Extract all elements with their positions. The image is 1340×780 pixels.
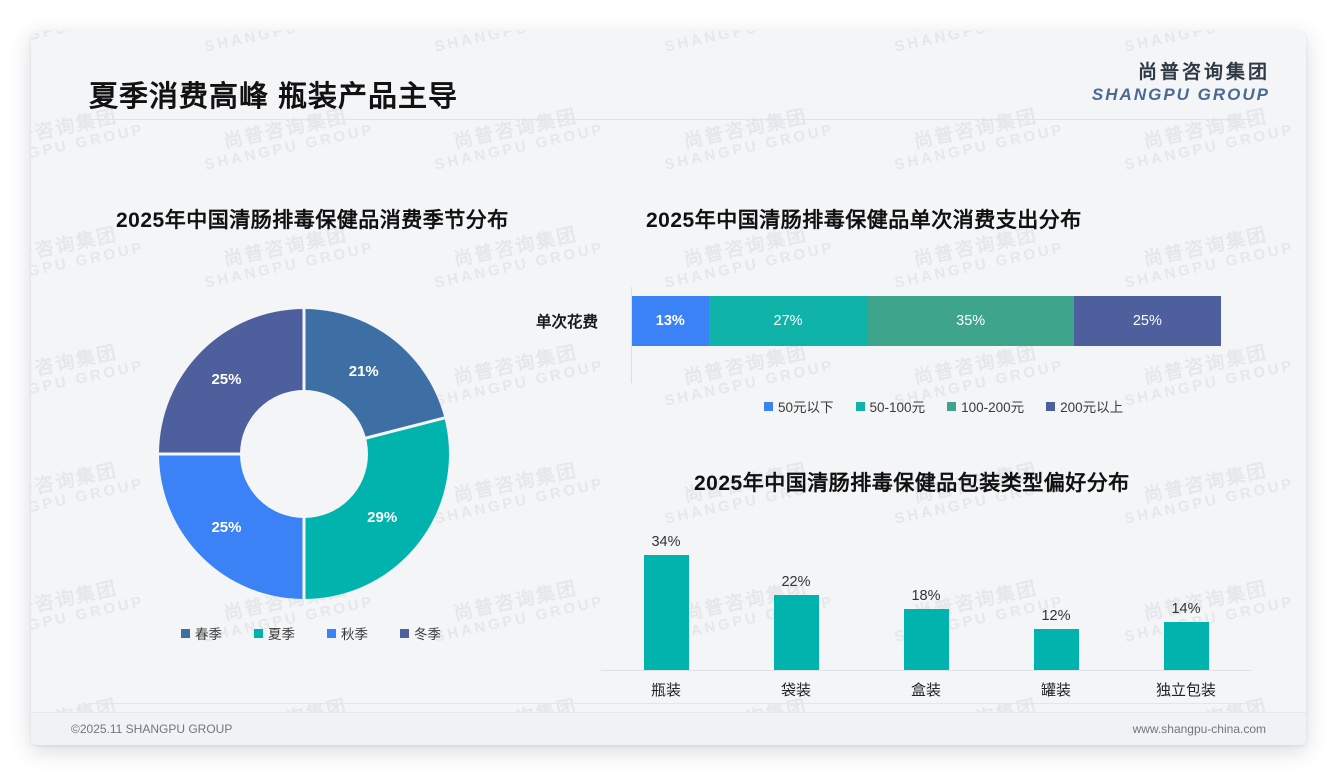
bar-value-label: 14% (1171, 601, 1200, 617)
donut-slice-label: 21% (349, 363, 379, 380)
bar-column-瓶装[interactable]: 34% (601, 515, 731, 670)
legend-label: 50-100元 (870, 396, 926, 416)
slide-header: 夏季消费高峰 瓶装产品主导 尚普咨询集团 SHANGPU GROUP (31, 31, 1306, 123)
legend-item-春季[interactable]: 春季 (181, 623, 222, 643)
footnote-divider (89, 703, 1254, 704)
stacked-bar-track: 13%27%35%25% (632, 296, 1221, 346)
legend-swatch-icon (254, 629, 263, 638)
bar-column-罐装[interactable]: 12% (991, 515, 1121, 670)
bar-value-label: 18% (911, 588, 940, 604)
stacked-bar-row-label: 单次花费 (536, 310, 598, 332)
legend-swatch-icon (947, 402, 956, 411)
legend-swatch-icon (764, 402, 773, 411)
legend-item-100-200元[interactable]: 100-200元 (947, 396, 1024, 416)
stacked-bar-legend: 50元以下50-100元100-200元200元以上 (764, 396, 1123, 416)
stacked-bar-segment-200元以上[interactable]: 25% (1074, 296, 1221, 346)
stacked-bar-segment-50元以下[interactable]: 13% (632, 296, 709, 346)
logo-text-cn: 尚普咨询集团 (1092, 57, 1270, 84)
header-divider (89, 119, 1254, 120)
legend-item-50元以下[interactable]: 50元以下 (764, 396, 834, 416)
footer-copyright: ©2025.11 SHANGPU GROUP (71, 722, 232, 736)
bar-column-袋装[interactable]: 22% (731, 515, 861, 670)
stacked-bar-chart-title: 2025年中国清肠排毒保健品单次消费支出分布 (646, 204, 1082, 234)
legend-item-秋季[interactable]: 秋季 (327, 623, 368, 643)
donut-chart-legend: 春季夏季秋季冬季 (181, 623, 441, 643)
legend-item-50-100元[interactable]: 50-100元 (856, 396, 926, 416)
legend-label: 秋季 (341, 623, 368, 643)
watermark-tile: 尚普咨询集团SHANGPU GROUP (429, 455, 606, 528)
legend-item-夏季[interactable]: 夏季 (254, 623, 295, 643)
watermark-tile: 尚普咨询集团SHANGPU GROUP (1119, 337, 1296, 410)
legend-label: 100-200元 (961, 396, 1024, 416)
bar-category-label-瓶装: 瓶装 (601, 679, 731, 700)
watermark-tile: 尚普咨询集团SHANGPU GROUP (31, 573, 146, 646)
stacked-bar-segment-50-100元[interactable]: 27% (709, 296, 868, 346)
stacked-bar-segment-100-200元[interactable]: 35% (868, 296, 1074, 346)
bar-rect[interactable] (774, 595, 819, 670)
page-title: 夏季消费高峰 瓶装产品主导 (89, 73, 458, 115)
donut-slice-label: 25% (211, 371, 241, 388)
legend-label: 春季 (195, 623, 222, 643)
logo-text-en: SHANGPU GROUP (1092, 85, 1270, 105)
legend-swatch-icon (400, 629, 409, 638)
bar-category-label-袋装: 袋装 (731, 679, 861, 700)
bar-category-label-盒装: 盒装 (861, 679, 991, 700)
legend-item-200元以上[interactable]: 200元以上 (1046, 396, 1123, 416)
footer-website[interactable]: www.shangpu-china.com (1133, 722, 1266, 736)
bar-column-盒装[interactable]: 18% (861, 515, 991, 670)
bar-value-label: 34% (651, 534, 680, 550)
legend-label: 200元以上 (1060, 396, 1123, 416)
legend-swatch-icon (327, 629, 336, 638)
watermark-tile: 尚普咨询集团SHANGPU GROUP (31, 337, 146, 410)
slide-footer: ©2025.11 SHANGPU GROUP www.shangpu-china… (31, 712, 1306, 745)
legend-label: 冬季 (414, 623, 441, 643)
donut-slice-divider (159, 453, 304, 456)
bar-category-label-罐装: 罐装 (991, 679, 1121, 700)
legend-label: 50元以下 (778, 396, 834, 416)
watermark-tile: 尚普咨询集团SHANGPU GROUP (429, 573, 606, 646)
donut-slice-label: 25% (211, 519, 241, 536)
watermark-tile: 尚普咨询集团SHANGPU GROUP (1119, 219, 1296, 292)
bar-value-label: 22% (781, 574, 810, 590)
bar-chart-baseline (601, 670, 1251, 671)
bar-value-label: 12% (1041, 608, 1070, 624)
bar-column-独立包装[interactable]: 14% (1121, 515, 1251, 670)
legend-swatch-icon (181, 629, 190, 638)
bar-chart-title: 2025年中国清肠排毒保健品包装类型偏好分布 (694, 467, 1130, 497)
legend-swatch-icon (856, 402, 865, 411)
donut-slice-label: 29% (367, 509, 397, 526)
donut-chart: 21%29%25%25% (159, 309, 449, 599)
bar-category-label-独立包装: 独立包装 (1121, 679, 1251, 700)
bar-rect[interactable] (644, 555, 689, 670)
watermark-tile: 尚普咨询集团SHANGPU GROUP (429, 337, 606, 410)
bar-rect[interactable] (904, 609, 949, 670)
legend-item-冬季[interactable]: 冬季 (400, 623, 441, 643)
donut-ring: 21%29%25%25% (159, 309, 449, 599)
donut-chart-title: 2025年中国清肠排毒保健品消费季节分布 (116, 204, 509, 234)
company-logo: 尚普咨询集团 SHANGPU GROUP (1092, 57, 1270, 105)
legend-swatch-icon (1046, 402, 1055, 411)
slide-card: 尚普咨询集团SHANGPU GROUP尚普咨询集团SHANGPU GROUP尚普… (31, 31, 1306, 745)
donut-slice-divider (303, 309, 306, 454)
watermark-tile: 尚普咨询集团SHANGPU GROUP (31, 455, 146, 528)
legend-label: 夏季 (268, 623, 295, 643)
donut-slice-divider (303, 454, 306, 599)
bar-rect[interactable] (1034, 629, 1079, 670)
bar-rect[interactable] (1164, 622, 1209, 670)
bar-chart-plot: 34%22%18%12%14% (601, 515, 1251, 670)
